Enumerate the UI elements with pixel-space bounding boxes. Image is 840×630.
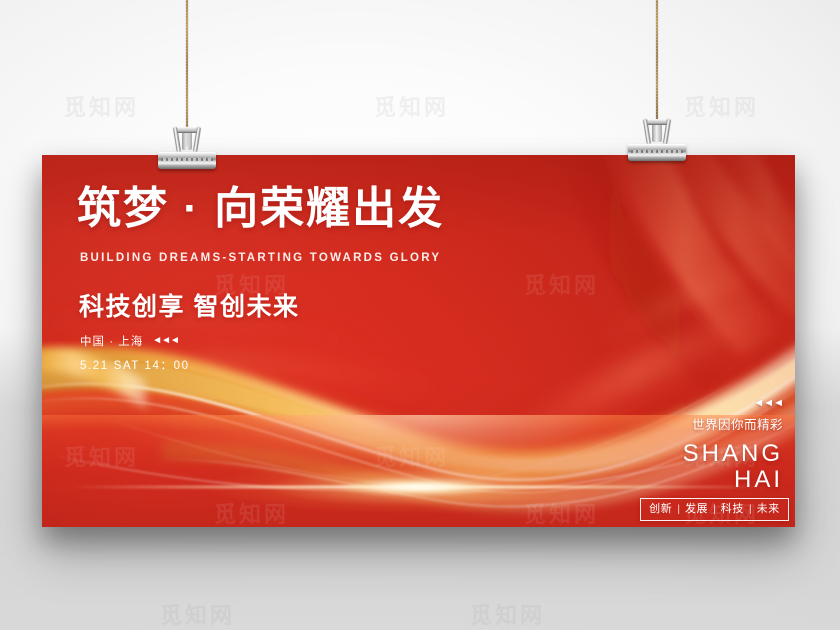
triangle-marker-icon: ◄◄◄ [152,336,179,346]
banner-subtitle-english: BUILDING DREAMS-STARTING TOWARDS GLORY [80,252,441,264]
watermark: 觅知网 [64,90,139,122]
clip-arms [644,119,670,145]
clip-arms [174,127,200,153]
hanging-cord-right [656,0,658,122]
banner-location: 中国 · 上海 ◄◄◄ [80,333,179,349]
hanging-cord-left [186,0,188,146]
location-text: 中国 · 上海 [80,333,143,349]
poster-mockup-page: 筑梦 · 向荣耀出发 BUILDING DREAMS-STARTING TOWA… [0,0,840,630]
banner-datetime: 5.21 SAT 14：00 [80,357,190,373]
clip-body [628,144,686,161]
banner-subtitle-chinese: 科技创享 智创未来 [79,287,299,323]
lockup-city-line-2: HAI [543,467,783,494]
clip-arm-inner [182,132,192,150]
tag-item: 科技 [716,504,749,515]
event-banner: 筑梦 · 向荣耀出发 BUILDING DREAMS-STARTING TOWA… [42,155,795,527]
lockup-city-line-1: SHANG [543,441,783,468]
clip-arm-inner [652,124,662,142]
tag-item: 未来 [752,504,785,515]
watermark: 觅知网 [684,90,759,122]
tag-item: 发展 [680,504,713,515]
binder-clip-right [628,119,686,161]
banner-title: 筑梦 · 向荣耀出发 [77,187,444,231]
binder-clip-left [158,127,216,169]
clip-arm-top [177,127,197,133]
city-lockup: ◄◄◄ 世界因你而精彩 SHANG HAI [543,398,783,494]
clip-body [158,152,216,169]
keyword-tag-box: 创新 | 发展 | 科技 | 未来 [640,498,789,521]
banner-content: 筑梦 · 向荣耀出发 BUILDING DREAMS-STARTING TOWA… [42,155,795,527]
tag-item: 创新 [644,504,677,515]
lockup-triangle-marker-icon: ◄◄◄ [543,398,783,409]
clip-arm-top [647,119,667,125]
watermark: 觅知网 [374,90,449,122]
lockup-slogan: 世界因你而精彩 [543,419,783,432]
